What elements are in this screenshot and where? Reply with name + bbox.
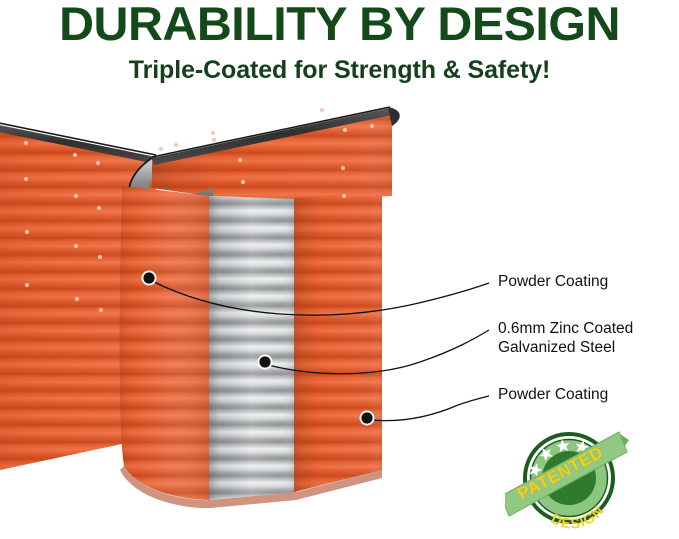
front-orange-panel (110, 180, 220, 510)
callout-label-zinc-coated-galvanized-steel: 0.6mm Zinc Coated Galvanized Steel (498, 319, 633, 357)
callout-dot-powder-bottom (360, 411, 375, 426)
patented-design-badge: DESIGN PATENTED (505, 422, 633, 534)
galvanized-steel-core (205, 190, 301, 510)
page-title: DURABILITY BY DESIGN (0, 0, 679, 50)
page-subtitle: Triple-Coated for Strength & Safety! (0, 55, 679, 85)
callout-label-powder-coating-bottom: Powder Coating (498, 385, 608, 404)
callout-label-powder-coating-top: Powder Coating (498, 272, 608, 291)
leader-line-powder-bottom (371, 396, 489, 421)
header: DURABILITY BY DESIGN Triple-Coated for S… (0, 0, 679, 96)
right-orange-panel (290, 185, 390, 505)
callout-dot-powder-top (142, 271, 157, 286)
callout-dot-zinc-steel (258, 355, 273, 370)
